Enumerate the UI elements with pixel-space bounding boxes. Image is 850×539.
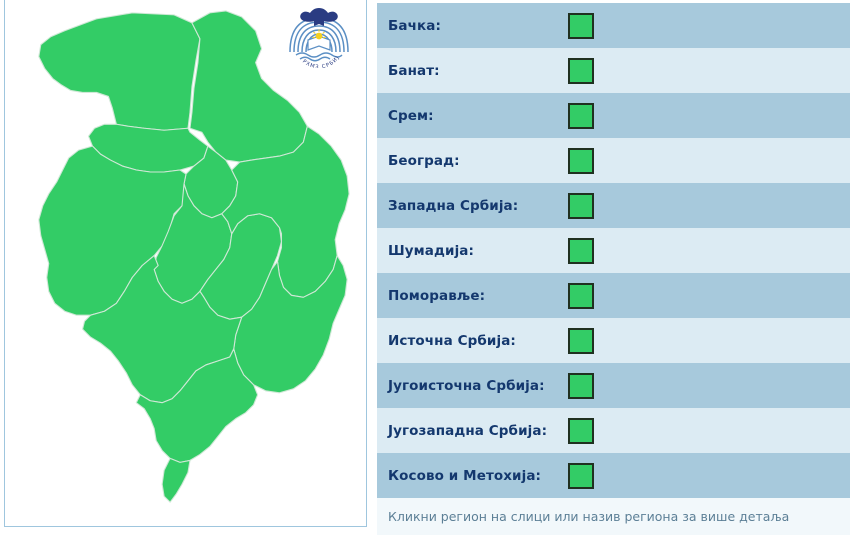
rhmz-logo: РХМЗ СРБИЈЕ [286, 6, 352, 68]
region-name-link[interactable]: Западна Србија: [388, 198, 518, 214]
map-hint-note: Кликни регион на слици или назив региона… [377, 498, 850, 535]
region-warning-swatch[interactable] [568, 328, 594, 354]
region-warning-swatch[interactable] [568, 193, 594, 219]
region-warning-swatch[interactable] [568, 373, 594, 399]
region-row[interactable]: Београд: [377, 138, 850, 183]
region-warning-swatch[interactable] [568, 463, 594, 489]
region-warning-swatch[interactable] [568, 418, 594, 444]
region-name-link[interactable]: Југоисточна Србија: [388, 378, 545, 394]
warning-map-page: РХМЗ СРБИЈЕ Бачка:Банат:Срем:Београд:Зап… [0, 0, 850, 539]
region-name-link[interactable]: Источна Србија: [388, 333, 516, 349]
region-row[interactable]: Југозападна Србија: [377, 408, 850, 453]
region-row[interactable]: Поморавље: [377, 273, 850, 318]
region-row[interactable]: Косово и Метохија: [377, 453, 850, 498]
region-name-link[interactable]: Поморавље: [388, 288, 485, 304]
serbia-regions-map[interactable] [5, 0, 366, 526]
region-name-link[interactable]: Шумадија: [388, 243, 474, 259]
region-row[interactable]: Банат: [377, 48, 850, 93]
region-warning-swatch[interactable] [568, 283, 594, 309]
region-name-link[interactable]: Југозападна Србија: [388, 423, 547, 439]
map-hint-text: Кликни регион на слици или назив региона… [388, 509, 789, 524]
region-row[interactable]: Бачка: [377, 3, 850, 48]
region-warning-swatch[interactable] [568, 13, 594, 39]
region-row[interactable]: Срем: [377, 93, 850, 138]
region-name-link[interactable]: Косово и Метохија: [388, 468, 541, 484]
region-warning-swatch[interactable] [568, 103, 594, 129]
region-warning-swatch[interactable] [568, 148, 594, 174]
map-panel: РХМЗ СРБИЈЕ [4, 0, 367, 527]
region-name-link[interactable]: Београд: [388, 153, 460, 169]
region-name-link[interactable]: Бачка: [388, 18, 441, 34]
region-row[interactable]: Југоисточна Србија: [377, 363, 850, 408]
region-name-link[interactable]: Банат: [388, 63, 440, 79]
map-region-backa[interactable] [39, 13, 200, 130]
region-rows: Бачка:Банат:Срем:Београд:Западна Србија:… [377, 3, 850, 498]
region-row[interactable]: Шумадија: [377, 228, 850, 273]
region-list-panel: Бачка:Банат:Срем:Београд:Западна Србија:… [377, 0, 850, 539]
region-row[interactable]: Источна Србија: [377, 318, 850, 363]
map-region-south-tip[interactable] [162, 458, 190, 502]
region-warning-swatch[interactable] [568, 238, 594, 264]
region-name-link[interactable]: Срем: [388, 108, 434, 124]
region-row[interactable]: Западна Србија: [377, 183, 850, 228]
region-warning-swatch[interactable] [568, 58, 594, 84]
